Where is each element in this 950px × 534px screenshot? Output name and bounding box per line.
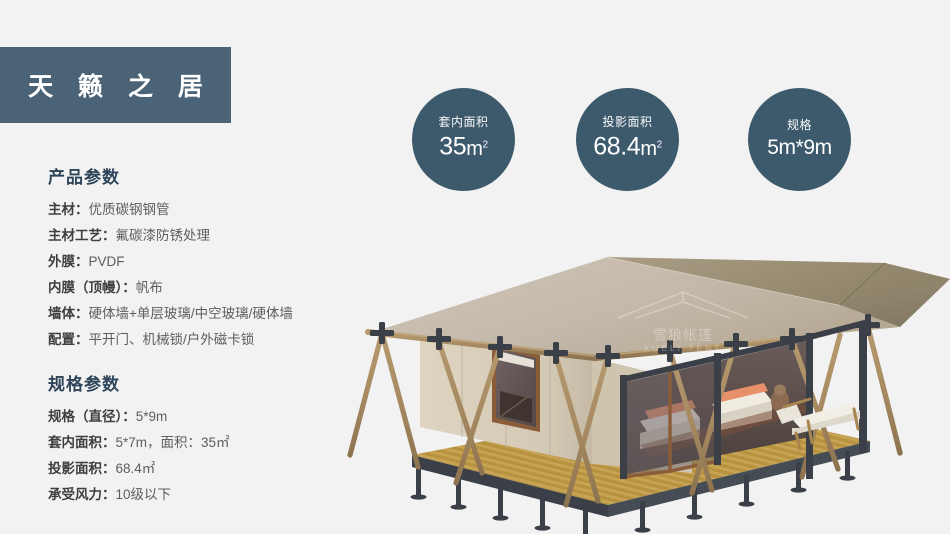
badge-value: 68.4m2 xyxy=(593,130,662,164)
spec-label: 墙体： xyxy=(48,306,89,321)
badge-interior-area: 套内面积 35m2 xyxy=(412,88,515,191)
product-spec-page: 天 籁 之 居 套内面积 35m2 投影面积 68.4m2 规格 5m*9m 产… xyxy=(0,0,950,534)
size-params-list: 规格（直径）：5*9m 套内面积：5*7m，面积：35㎡ 投影面积：68.4㎡ … xyxy=(48,404,388,508)
list-item: 承受风力：10级以下 xyxy=(48,482,388,508)
badge-label: 规格 xyxy=(787,118,812,132)
list-item: 规格（直径）：5*9m xyxy=(48,404,388,430)
spec-label: 规格（直径）： xyxy=(48,409,136,424)
list-item: 投影面积：68.4㎡ xyxy=(48,456,388,482)
spec-value: 10级以下 xyxy=(116,487,172,502)
page-title: 天 籁 之 居 xyxy=(19,67,212,103)
unit-square-meter: m2 xyxy=(466,138,487,160)
spec-value: 硬体墙+单层玻璃/中空玻璃/硬体墙 xyxy=(89,306,293,321)
list-item: 主材：优质碳钢钢管 xyxy=(48,197,388,223)
spec-value: 5*7m，面积：35㎡ xyxy=(116,435,230,450)
spec-value: 5*9m xyxy=(136,409,168,424)
spec-label: 承受风力： xyxy=(48,487,116,502)
badge-label: 投影面积 xyxy=(602,115,652,129)
spec-label: 配置： xyxy=(48,332,89,347)
spec-label: 主材工艺： xyxy=(48,228,116,243)
list-item: 主材工艺：氟碳漆防锈处理 xyxy=(48,223,388,249)
list-item: 配置：平开门、机械锁/户外磁卡锁 xyxy=(48,327,388,353)
specifications-column: 产品参数 主材：优质碳钢钢管 主材工艺：氟碳漆防锈处理 外膜：PVDF 内膜（顶… xyxy=(48,163,388,508)
spec-label: 主材： xyxy=(48,202,89,217)
badge-value: 35m2 xyxy=(439,130,487,164)
list-item: 套内面积：5*7m，面积：35㎡ xyxy=(48,430,388,456)
spec-value: 氟碳漆防锈处理 xyxy=(116,228,211,243)
section-heading-product-params: 产品参数 xyxy=(48,163,388,188)
spec-value: 平开门、机械锁/户外磁卡锁 xyxy=(89,332,255,347)
badge-label: 套内面积 xyxy=(438,115,488,129)
list-item: 外膜：PVDF xyxy=(48,249,388,275)
product-title-block: 天 籁 之 居 xyxy=(0,47,231,123)
tent-3d-render xyxy=(340,205,950,534)
spec-label: 内膜（顶幔）： xyxy=(48,280,136,295)
tent-illustration xyxy=(340,205,950,534)
spec-label: 套内面积： xyxy=(48,435,116,450)
spec-label: 投影面积： xyxy=(48,461,116,476)
product-params-list: 主材：优质碳钢钢管 主材工艺：氟碳漆防锈处理 外膜：PVDF 内膜（顶幔）：帆布… xyxy=(48,197,388,353)
badge-projected-area: 投影面积 68.4m2 xyxy=(576,88,679,191)
spec-value: 68.4㎡ xyxy=(116,461,156,476)
list-item: 内膜（顶幔）：帆布 xyxy=(48,275,388,301)
spec-value: PVDF xyxy=(89,254,125,269)
badge-dimensions: 规格 5m*9m xyxy=(748,88,851,191)
list-item: 墙体：硬体墙+单层玻璃/中空玻璃/硬体墙 xyxy=(48,301,388,327)
spec-label: 外膜： xyxy=(48,254,89,269)
spec-value: 优质碳钢钢管 xyxy=(89,202,170,217)
unit-square-meter: m2 xyxy=(640,138,661,160)
badge-value: 5m*9m xyxy=(767,133,832,162)
spec-value: 帆布 xyxy=(136,280,163,295)
section-heading-size-params: 规格参数 xyxy=(48,370,388,395)
